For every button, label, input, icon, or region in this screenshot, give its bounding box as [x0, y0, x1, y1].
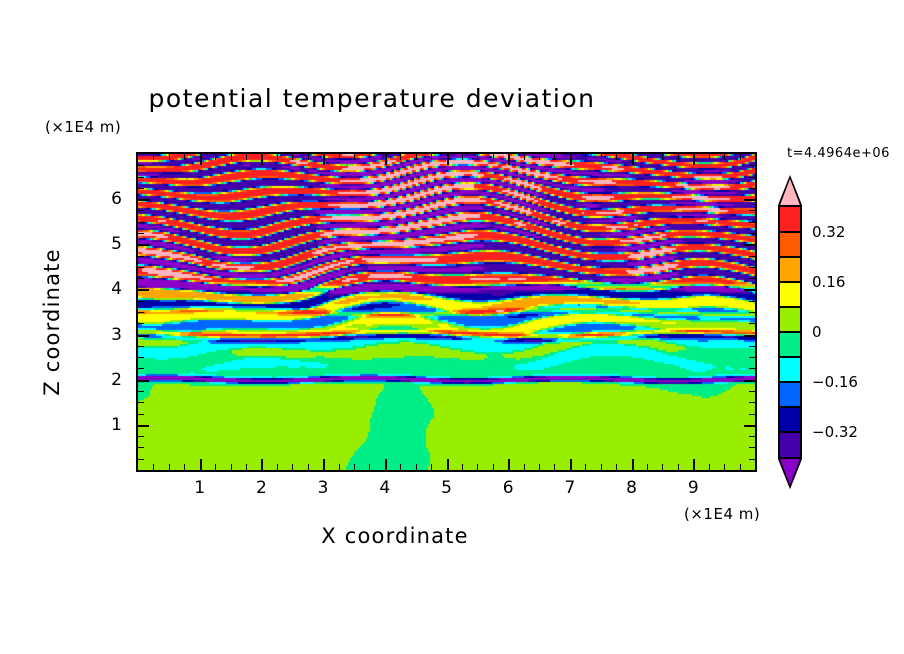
x-axis-unit-label: (×1E4 m) — [684, 505, 760, 523]
tick-mark — [508, 154, 510, 165]
tick-mark — [744, 380, 755, 382]
tick-mark — [749, 414, 755, 415]
colorbar-cap-outline — [778, 175, 802, 205]
tick-mark — [662, 154, 663, 160]
tick-mark — [138, 210, 144, 211]
tick-mark — [308, 154, 309, 160]
tick-mark — [277, 464, 278, 470]
x-tick-label: 4 — [379, 478, 390, 498]
colorbar-divider — [780, 231, 800, 233]
colorbar-divider — [780, 431, 800, 433]
tick-mark — [184, 154, 185, 160]
tick-mark — [138, 391, 144, 392]
tick-mark — [431, 154, 432, 160]
tick-mark — [261, 459, 263, 470]
tick-mark — [246, 464, 247, 470]
tick-mark — [601, 464, 602, 470]
tick-mark — [323, 459, 325, 470]
colorbar-tick-label: 0.32 — [812, 223, 845, 241]
y-tick-label: 1 — [111, 415, 122, 435]
x-axis-title: X coordinate — [0, 524, 904, 548]
tick-mark — [616, 464, 617, 470]
tick-mark — [477, 154, 478, 160]
tick-mark — [431, 464, 432, 470]
tick-mark — [678, 154, 679, 160]
colorbar-tick-label: −0.32 — [812, 423, 858, 441]
tick-mark — [138, 425, 149, 427]
tick-mark — [138, 312, 144, 313]
tick-mark — [749, 436, 755, 437]
tick-mark — [462, 154, 463, 160]
tick-mark — [709, 464, 710, 470]
tick-mark — [539, 154, 540, 160]
tick-mark — [138, 436, 144, 437]
x-tick-label: 3 — [318, 478, 329, 498]
x-tick-label: 2 — [256, 478, 267, 498]
tick-mark — [724, 154, 725, 160]
colorbar-band — [780, 207, 800, 232]
tick-mark — [153, 154, 154, 160]
tick-mark — [447, 154, 449, 165]
y-tick-label: 6 — [111, 189, 122, 209]
tick-mark — [647, 464, 648, 470]
tick-mark — [200, 154, 202, 165]
tick-mark — [261, 154, 263, 165]
tick-mark — [308, 464, 309, 470]
x-tick-label: 1 — [194, 478, 205, 498]
tick-mark — [200, 459, 202, 470]
colorbar-divider — [780, 306, 800, 308]
tick-mark — [339, 464, 340, 470]
time-annotation: t=4.4964e+06 — [787, 146, 890, 161]
tick-mark — [323, 154, 325, 165]
colorbar-bands — [778, 205, 802, 459]
tick-mark — [508, 459, 510, 470]
tick-mark — [184, 464, 185, 470]
y-tick-label: 5 — [111, 234, 122, 254]
y-tick-label: 4 — [111, 279, 122, 299]
tick-mark — [749, 177, 755, 178]
tick-mark — [554, 464, 555, 470]
tick-mark — [524, 464, 525, 470]
tick-mark — [744, 425, 755, 427]
y-axis-ticks: 123456 — [92, 0, 122, 654]
tick-mark — [369, 464, 370, 470]
tick-mark — [601, 154, 602, 160]
tick-mark — [138, 278, 144, 279]
tick-mark — [570, 459, 572, 470]
tick-mark — [662, 464, 663, 470]
colorbar-tick-label: 0 — [812, 323, 822, 341]
tick-mark — [246, 154, 247, 160]
tick-mark — [749, 323, 755, 324]
tick-mark — [554, 154, 555, 160]
tick-mark — [138, 177, 144, 178]
colorbar-band — [780, 382, 800, 407]
tick-mark — [169, 464, 170, 470]
tick-mark — [277, 154, 278, 160]
tick-mark — [138, 256, 144, 257]
tick-mark — [138, 165, 144, 166]
colorbar-band — [780, 332, 800, 357]
tick-mark — [138, 357, 144, 358]
tick-mark — [447, 459, 449, 470]
tick-mark — [585, 154, 586, 160]
colorbar-band — [780, 407, 800, 432]
tick-mark — [138, 447, 144, 448]
tick-mark — [749, 391, 755, 392]
tick-mark — [744, 289, 755, 291]
tick-mark — [138, 222, 144, 223]
tick-mark — [749, 459, 755, 460]
tick-mark — [138, 335, 149, 337]
tick-mark — [138, 289, 149, 291]
tick-mark — [749, 233, 755, 234]
tick-mark — [585, 464, 586, 470]
tick-mark — [400, 464, 401, 470]
tick-mark — [138, 199, 149, 201]
tick-mark — [339, 154, 340, 160]
tick-mark — [354, 464, 355, 470]
tick-mark — [539, 464, 540, 470]
tick-mark — [138, 244, 149, 246]
tick-mark — [493, 464, 494, 470]
tick-mark — [462, 464, 463, 470]
page-title-text: potential temperature deviation — [149, 84, 596, 113]
colorbar-divider — [780, 356, 800, 358]
tick-mark — [749, 165, 755, 166]
tick-mark — [749, 188, 755, 189]
tick-mark — [138, 301, 144, 302]
colorbar-divider — [780, 331, 800, 333]
tick-mark — [749, 447, 755, 448]
y-axis-title: Z coordinate — [40, 212, 64, 432]
colorbar-divider — [780, 281, 800, 283]
tick-mark — [570, 154, 572, 165]
tick-mark — [138, 459, 144, 460]
tick-mark — [138, 368, 144, 369]
tick-mark — [693, 154, 695, 165]
tick-mark — [292, 464, 293, 470]
x-tick-label: 8 — [626, 478, 637, 498]
tick-mark — [740, 154, 741, 160]
x-tick-label: 9 — [688, 478, 699, 498]
x-tick-label: 7 — [564, 478, 575, 498]
colorbar-band — [780, 357, 800, 382]
tick-mark — [231, 154, 232, 160]
tick-mark — [749, 312, 755, 313]
tick-mark — [416, 154, 417, 160]
tick-mark — [744, 244, 755, 246]
colorbar-under-cap — [778, 459, 802, 489]
tick-mark — [678, 464, 679, 470]
x-axis-title-text: X coordinate — [321, 524, 468, 548]
figure-canvas: potential temperature deviation (×1E4 m)… — [0, 0, 904, 654]
colorbar[interactable]: 0.320.160−0.16−0.32 — [778, 205, 802, 459]
tick-mark — [616, 154, 617, 160]
colorbar-divider — [780, 381, 800, 383]
tick-mark — [749, 301, 755, 302]
tick-mark — [749, 402, 755, 403]
colorbar-band — [780, 232, 800, 257]
tick-mark — [749, 256, 755, 257]
colorbar-divider — [780, 256, 800, 258]
tick-mark — [138, 402, 144, 403]
tick-mark — [215, 464, 216, 470]
colorbar-over-cap — [778, 175, 802, 205]
tick-mark — [477, 464, 478, 470]
tick-mark — [749, 368, 755, 369]
tick-mark — [693, 459, 695, 470]
tick-mark — [740, 464, 741, 470]
tick-mark — [138, 323, 144, 324]
tick-mark — [647, 154, 648, 160]
tick-mark — [744, 335, 755, 337]
contour-field — [138, 154, 755, 470]
x-tick-label: 6 — [503, 478, 514, 498]
tick-mark — [709, 154, 710, 160]
tick-mark — [138, 188, 144, 189]
y-tick-label: 3 — [111, 325, 122, 345]
tick-mark — [632, 459, 634, 470]
tick-mark — [749, 267, 755, 268]
contour-plot[interactable] — [136, 152, 757, 472]
tick-mark — [416, 464, 417, 470]
colorbar-tick-label: −0.16 — [812, 373, 858, 391]
tick-mark — [231, 464, 232, 470]
tick-mark — [524, 154, 525, 160]
colorbar-tick-label: 0.16 — [812, 273, 845, 291]
colorbar-cap-outline — [778, 459, 802, 489]
colorbar-band — [780, 307, 800, 332]
tick-mark — [724, 464, 725, 470]
tick-mark — [632, 154, 634, 165]
tick-mark — [138, 414, 144, 415]
tick-mark — [400, 154, 401, 160]
tick-mark — [744, 199, 755, 201]
tick-mark — [292, 154, 293, 160]
y-tick-label: 2 — [111, 370, 122, 390]
tick-mark — [385, 154, 387, 165]
tick-mark — [138, 267, 144, 268]
x-tick-label: 5 — [441, 478, 452, 498]
tick-mark — [493, 154, 494, 160]
tick-mark — [749, 222, 755, 223]
tick-mark — [153, 464, 154, 470]
tick-mark — [354, 154, 355, 160]
page-title: potential temperature deviation — [0, 84, 904, 113]
tick-mark — [169, 154, 170, 160]
tick-mark — [138, 233, 144, 234]
colorbar-band — [780, 432, 800, 457]
tick-mark — [369, 154, 370, 160]
tick-mark — [385, 459, 387, 470]
tick-mark — [138, 380, 149, 382]
tick-mark — [749, 346, 755, 347]
colorbar-divider — [780, 406, 800, 408]
tick-mark — [138, 346, 144, 347]
colorbar-band — [780, 257, 800, 282]
tick-mark — [749, 278, 755, 279]
tick-mark — [749, 210, 755, 211]
tick-mark — [749, 357, 755, 358]
tick-mark — [215, 154, 216, 160]
colorbar-band — [780, 282, 800, 307]
